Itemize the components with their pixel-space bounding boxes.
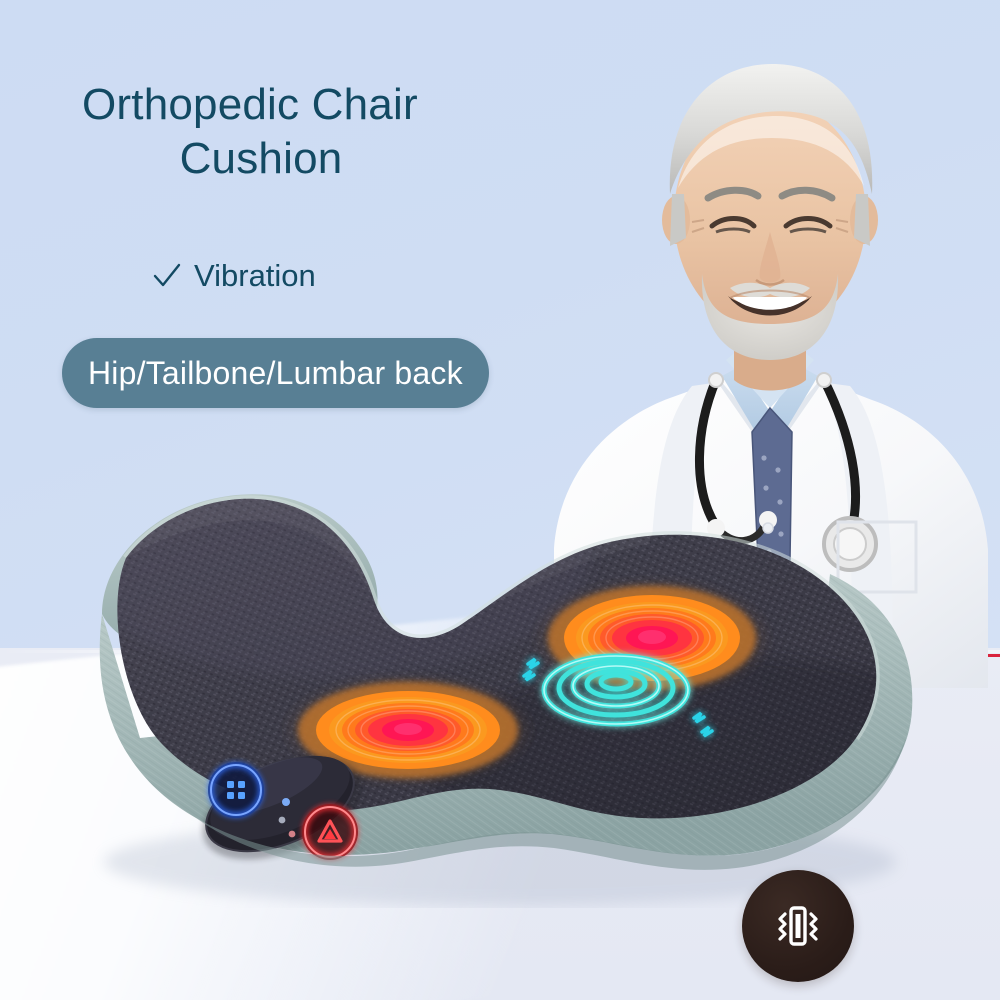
vibration-icon xyxy=(770,898,826,954)
feature-vibration: Vibration xyxy=(152,258,316,294)
feature-label: Vibration xyxy=(194,258,316,294)
application-areas-badge: Hip/Tailbone/Lumbar back xyxy=(62,338,489,408)
vibration-feature-badge xyxy=(742,870,854,982)
check-icon xyxy=(152,261,182,291)
product-cushion xyxy=(30,438,960,908)
headline-line-1: Orthopedic Chair xyxy=(82,78,512,132)
advertisement-canvas: Orthopedic Chair Cushion Vibration Hip/T… xyxy=(0,0,1000,1000)
page-title: Orthopedic Chair Cushion xyxy=(82,78,512,185)
vibration-button xyxy=(302,804,358,860)
heat-button xyxy=(208,762,264,818)
heat-zone-right xyxy=(530,576,774,700)
application-areas-label: Hip/Tailbone/Lumbar back xyxy=(88,355,463,392)
headline-line-2: Cushion xyxy=(82,132,512,186)
